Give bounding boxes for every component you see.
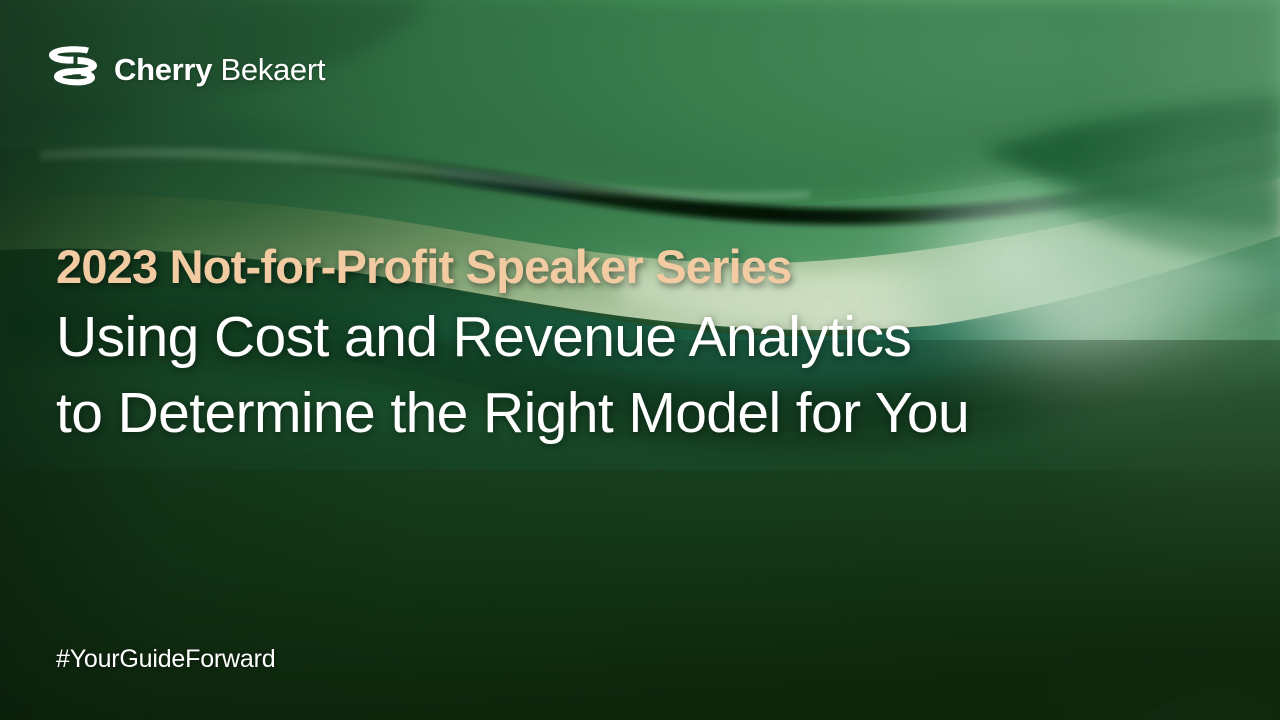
brand-wordmark: Cherry Bekaert (114, 54, 325, 85)
headline-block: 2023 Not-for-Profit Speaker Series Using… (56, 243, 969, 451)
session-title-line-2: to Determine the Right Model for You (56, 376, 969, 452)
brand-name-light: Bekaert (220, 52, 325, 87)
campaign-hashtag: #YourGuideForward (56, 645, 275, 674)
brand-name-bold: Cherry (114, 52, 212, 87)
cherry-bekaert-ribbon-mark-icon (46, 44, 100, 94)
series-title: 2023 Not-for-Profit Speaker Series (56, 243, 969, 292)
brand-logo[interactable]: Cherry Bekaert (46, 44, 325, 94)
session-title-line-1: Using Cost and Revenue Analytics (56, 300, 969, 376)
title-slide: Cherry Bekaert 2023 Not-for-Profit Speak… (0, 0, 1280, 720)
